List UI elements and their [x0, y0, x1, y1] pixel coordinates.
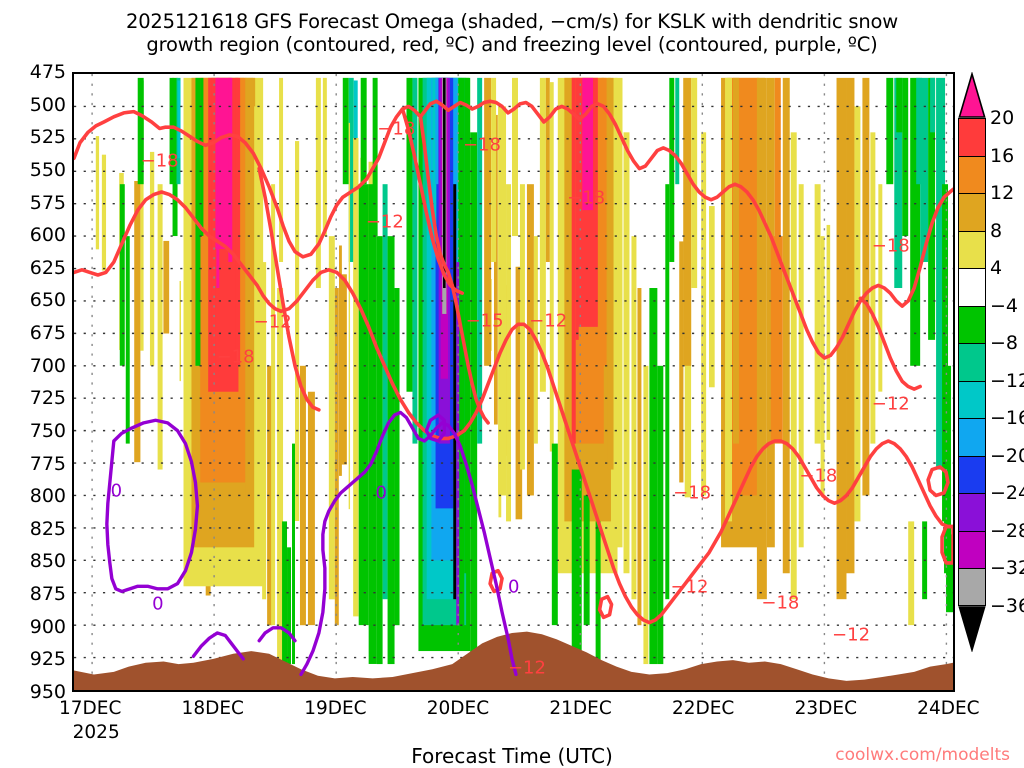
- colorbar-tick--36: −36: [990, 595, 1024, 617]
- y-tick-825: 825: [30, 518, 66, 540]
- chart-title: 2025121618 GFS Forecast Omega (shaded, −…: [0, 10, 1024, 56]
- colorbar-tick--32: −32: [990, 557, 1024, 579]
- y-tick-550: 550: [30, 159, 66, 181]
- x-tick-24DEC: 24DEC: [917, 698, 979, 719]
- contour-label-dendritic-14: −18: [761, 592, 799, 613]
- contour-label-dendritic-4: −18: [567, 188, 605, 209]
- colorbar-tick--8: −8: [990, 332, 1018, 354]
- y-tick-925: 925: [30, 648, 66, 670]
- x-tick-23DEC: 23DEC: [795, 698, 857, 719]
- colorbar-tick--28: −28: [990, 520, 1024, 542]
- y-tick-475: 475: [30, 61, 66, 83]
- colorbar-tick--20: −20: [990, 445, 1024, 467]
- x-tick-17DEC: 17DEC: [59, 698, 121, 719]
- colorbar-band-1: [958, 156, 986, 194]
- colorbar-tick--16: −16: [990, 407, 1024, 429]
- contour-label-dendritic-11: −18: [673, 482, 711, 503]
- colorbar: 20161284−4−8−12−16−20−24−28−32−36: [958, 72, 1024, 692]
- y-tick-850: 850: [30, 550, 66, 572]
- y-tick-625: 625: [30, 257, 66, 279]
- x-tick-19DEC: 19DEC: [304, 698, 366, 719]
- plot-inner: −18−18−18−12−18−12−18−15−12−12−18−18−18−…: [74, 74, 953, 690]
- y-tick-675: 675: [30, 322, 66, 344]
- contour-label-dendritic-3: −12: [366, 211, 404, 232]
- y-tick-900: 900: [30, 616, 66, 638]
- y-tick-600: 600: [30, 224, 66, 246]
- plot-area: −18−18−18−12−18−12−18−15−12−12−18−18−18−…: [72, 72, 955, 692]
- forecast-sounding-chart: 2025121618 GFS Forecast Omega (shaded, −…: [0, 0, 1024, 768]
- contour-label-dendritic-12: −18: [799, 465, 837, 486]
- colorbar-tick-16: 16: [990, 145, 1014, 167]
- colorbar-band-6: [958, 343, 986, 381]
- contour-label-dendritic-16: −12: [508, 657, 546, 678]
- y-tick-800: 800: [30, 485, 66, 507]
- watermark: coolwx.com/modelts: [835, 745, 1010, 765]
- colorbar-band-12: [958, 568, 986, 606]
- x-tick-20DEC: 20DEC: [427, 698, 489, 719]
- y-tick-575: 575: [30, 192, 66, 214]
- colorbar-tick--12: −12: [990, 370, 1024, 392]
- colorbar-band-0: [958, 118, 986, 156]
- colorbar-tick--24: −24: [990, 482, 1024, 504]
- colorbar-band-8: [958, 418, 986, 456]
- colorbar-band-4: [958, 268, 986, 306]
- colorbar-tick-4: 4: [990, 257, 1002, 279]
- contour-label-freezing-19: 0: [376, 482, 387, 503]
- y-tick-650: 650: [30, 289, 66, 311]
- contour-labels: −18−18−18−12−18−12−18−15−12−12−18−18−18−…: [74, 74, 953, 690]
- colorbar-band-3: [958, 231, 986, 269]
- contour-label-dendritic-5: −12: [254, 312, 292, 333]
- colorbar-max-arrow: [958, 72, 986, 118]
- contour-label-freezing-20: 0: [508, 577, 519, 598]
- colorbar-strip: [958, 118, 986, 606]
- colorbar-band-11: [958, 531, 986, 569]
- y-tick-775: 775: [30, 453, 66, 475]
- contour-label-dendritic-7: −15: [466, 310, 504, 331]
- contour-label-dendritic-6: −18: [217, 347, 255, 368]
- contour-label-dendritic-13: −12: [670, 577, 708, 598]
- y-tick-500: 500: [30, 94, 66, 116]
- contour-label-dendritic-8: −12: [529, 310, 567, 331]
- y-tick-725: 725: [30, 387, 66, 409]
- colorbar-band-2: [958, 193, 986, 231]
- contour-label-dendritic-0: −18: [141, 150, 179, 171]
- colorbar-tick-8: 8: [990, 220, 1002, 242]
- y-axis-labels: 4755005255505756006256506757007257507758…: [0, 72, 66, 692]
- colorbar-band-9: [958, 456, 986, 494]
- contour-label-dendritic-9: −12: [872, 394, 910, 415]
- colorbar-min-arrow: [958, 606, 986, 652]
- colorbar-band-10: [958, 493, 986, 531]
- contour-label-freezing-18: 0: [152, 594, 163, 615]
- contour-label-dendritic-1: −18: [377, 118, 415, 139]
- contour-label-dendritic-10: −18: [872, 236, 910, 257]
- contour-label-dendritic-2: −18: [463, 135, 501, 156]
- y-tick-700: 700: [30, 355, 66, 377]
- y-tick-750: 750: [30, 420, 66, 442]
- colorbar-band-7: [958, 381, 986, 419]
- contour-label-dendritic-15: −12: [832, 625, 870, 646]
- x-tick-18DEC: 18DEC: [182, 698, 244, 719]
- colorbar-tick--4: −4: [990, 295, 1018, 317]
- colorbar-tick-12: 12: [990, 182, 1014, 204]
- contour-label-freezing-17: 0: [111, 480, 122, 501]
- x-axis-year: 2025: [73, 722, 120, 743]
- y-tick-875: 875: [30, 583, 66, 605]
- colorbar-tick-20: 20: [990, 107, 1014, 129]
- y-tick-525: 525: [30, 126, 66, 148]
- colorbar-band-5: [958, 306, 986, 344]
- x-tick-21DEC: 21DEC: [549, 698, 611, 719]
- x-tick-22DEC: 22DEC: [672, 698, 734, 719]
